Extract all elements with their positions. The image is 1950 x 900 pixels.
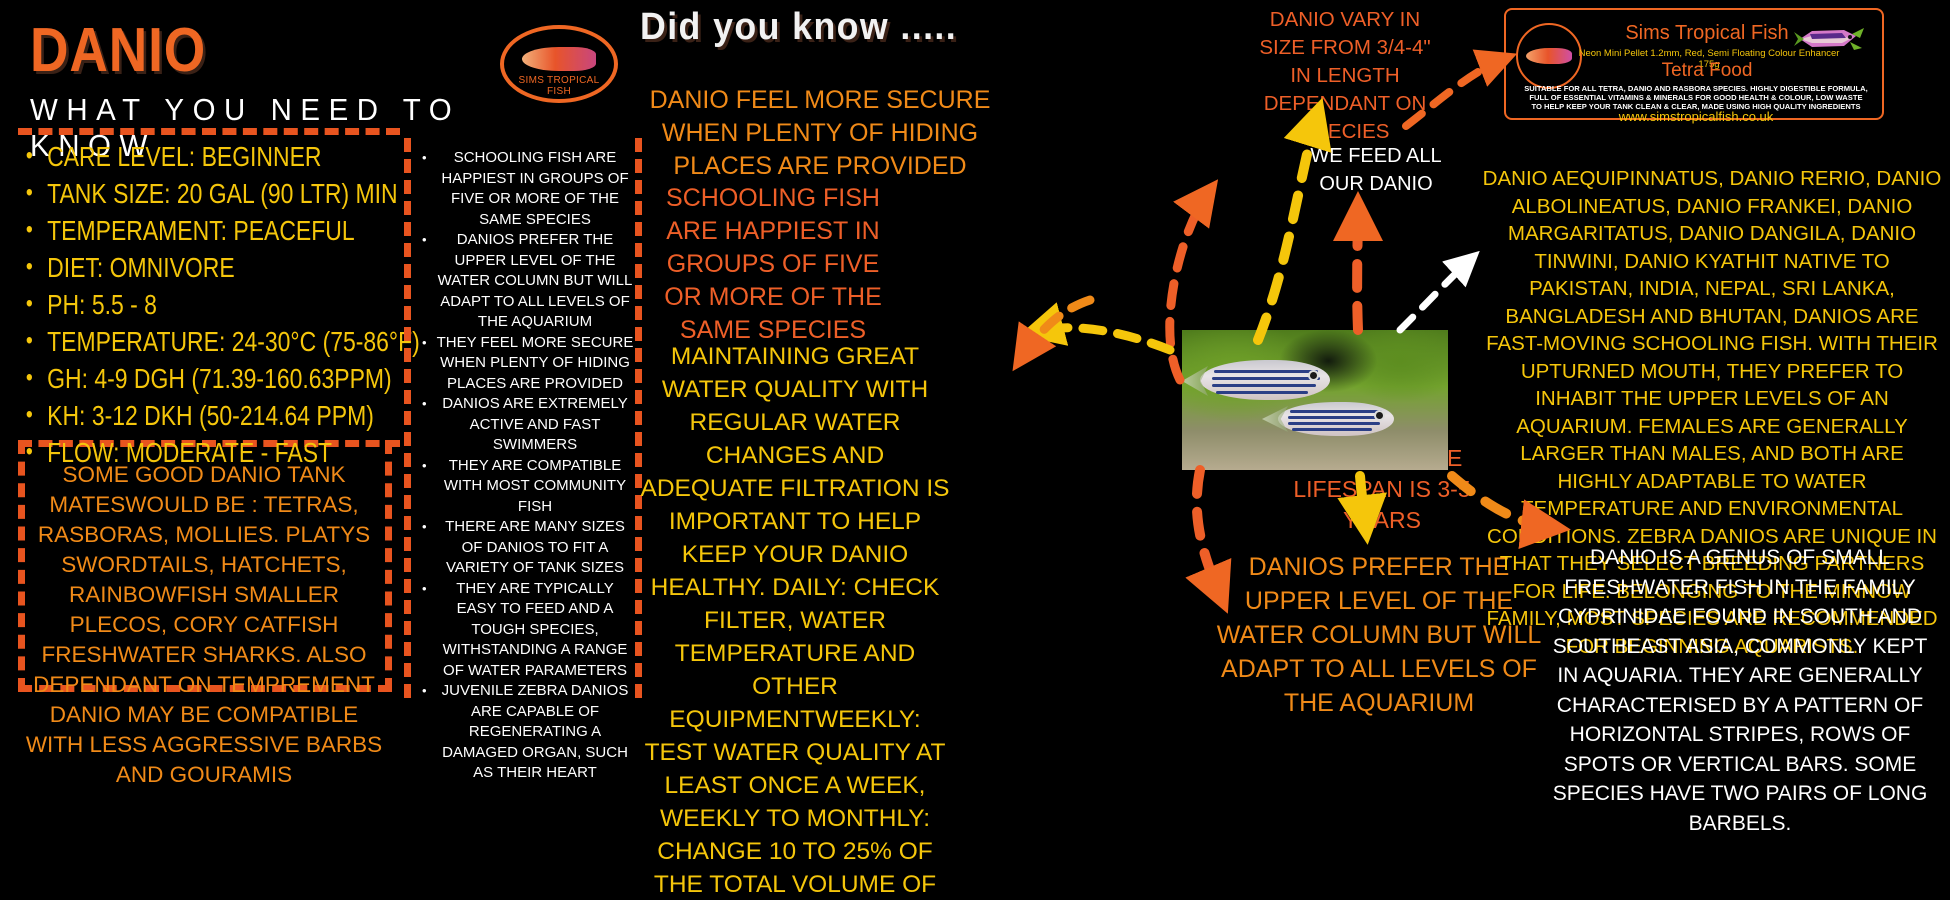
white-fact-item: DANIOS ARE EXTREMELY ACTIVE AND FAST SWI… [420, 394, 634, 456]
spec-item: KH: 3-12 DKH (50-214.64 PPM) [16, 397, 344, 434]
neon-tetra-icon [1792, 26, 1864, 52]
white-fact-item: JUVENILE ZEBRA DANIOS ARE CAPABLE OF REG… [420, 681, 634, 784]
spec-item: TEMPERAMENT: PEACEFUL [16, 212, 344, 249]
fish-icon [1278, 402, 1394, 436]
fish-icon [1200, 360, 1330, 400]
did-you-know-heading: Did you know ..... [640, 6, 957, 49]
divider-under-title [18, 128, 400, 135]
white-fact-item: SCHOOLING FISH ARE HAPPIEST IN GROUPS OF… [420, 148, 634, 230]
arrow-to-schooling-block [1032, 328, 1170, 350]
fact-size-range: DANIO VARY IN SIZE FROM 3/4-4" IN LENGTH… [1248, 6, 1442, 146]
spec-item: PH: 5.5 - 8 [16, 286, 344, 323]
brand-logo: SIMS TROPICAL FISH [500, 25, 618, 115]
white-facts-list: SCHOOLING FISH ARE HAPPIEST IN GROUPS OF… [420, 148, 634, 784]
page-title: DANIO [30, 20, 434, 82]
fact-schooling-groups: SCHOOLING FISH ARE HAPPIEST IN GROUPS OF… [648, 182, 898, 347]
fact-hiding-places: DANIO FEEL MORE SECURE WHEN PLENTY OF HI… [644, 84, 996, 183]
spec-item: CARE LEVEL: BEGINNER [16, 138, 344, 175]
infographic-canvas: DANIO WHAT YOU NEED TO KNOW SIMS TROPICA… [0, 0, 1950, 900]
logo-label: SIMS TROPICAL FISH [510, 75, 608, 97]
fact-water-quality: MAINTAINING GREAT WATER QUALITY WITH REG… [640, 340, 950, 900]
product-brand: Sims Tropical Fish [1592, 22, 1822, 45]
product-type: Tetra Food [1592, 60, 1822, 82]
product-card[interactable]: Sims Tropical Fish Neon Mini Pellet 1.2m… [1504, 8, 1884, 120]
tank-mates-panel: SOME GOOD DANIO TANK MATESWOULD BE : TET… [18, 448, 390, 690]
product-logo-icon [1516, 23, 1582, 89]
arrow-to-species-text [1400, 258, 1472, 330]
tank-mates-text: SOME GOOD DANIO TANK MATESWOULD BE : TET… [18, 460, 390, 790]
zebra-danio-photo [1182, 330, 1448, 470]
product-url[interactable]: www.simstropicalfish.co.uk [1524, 109, 1868, 124]
product-fine-print: SUITABLE FOR ALL TETRA, DANIO AND RASBOR… [1524, 84, 1868, 111]
white-fact-item: THEY ARE COMPATIBLE WITH MOST COMMUNITY … [420, 456, 634, 518]
arrow-to-we-feed [1357, 206, 1358, 330]
genus-description-text: DANIO IS A GENUS OF SMALL FRESHWATER FIS… [1540, 543, 1940, 838]
spec-item: DIET: OMNIVORE [16, 249, 344, 286]
white-facts-column: SCHOOLING FISH ARE HAPPIEST IN GROUPS OF… [406, 140, 640, 695]
logo-fish-icon [522, 47, 596, 71]
fact-we-feed: WE FEED ALL OUR DANIO [1292, 142, 1460, 198]
white-fact-item: THEY FEEL MORE SECURE WHEN PLENTY OF HID… [420, 333, 634, 395]
spec-list: CARE LEVEL: BEGINNER TANK SIZE: 20 GAL (… [16, 138, 416, 471]
white-fact-item: DANIOS PREFER THE UPPER LEVEL OF THE WAT… [420, 230, 634, 333]
arrow-to-schooling-text [1020, 300, 1090, 360]
spec-item: TANK SIZE: 20 GAL (90 LTR) MIN [16, 175, 344, 212]
spec-item: GH: 4-9 DGH (71.39-160.63PPM) [16, 360, 344, 397]
white-fact-item: THEY ARE TYPICALLY EASY TO FEED AND A TO… [420, 579, 634, 682]
spec-item: TEMPERATURE: 24-30°C (75-86°F) [16, 323, 344, 360]
white-fact-item: THERE ARE MANY SIZES OF DANIOS TO FIT A … [420, 517, 634, 579]
